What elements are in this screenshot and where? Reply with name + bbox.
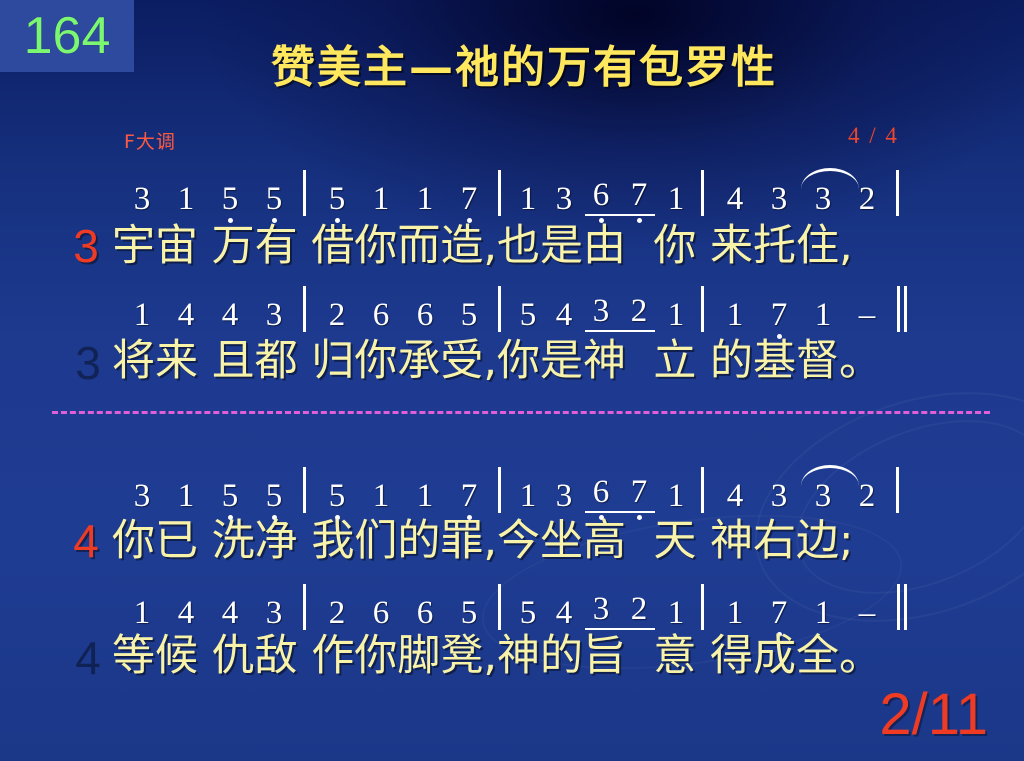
slide-title: 赞美主—祂的万有包罗性 [0,46,1024,90]
measure: 1 3 6 7 1 [510,475,694,513]
measure: 5 4 3 2 1 [510,294,694,332]
note: 3 [801,182,845,216]
note: 5 [315,479,359,513]
note: 4 [208,298,252,332]
note: 1 [403,479,447,513]
measure: 1 3 6 7 1 [510,178,694,216]
note: 2 [845,479,889,513]
note: 1 [164,479,208,513]
notation-staff-2: 1 4 4 3 2 6 6 5 5 4 3 2 1 1 7 1 – [120,280,950,332]
note-sustain: – [845,298,889,332]
slide-canvas: 164 赞美主—祂的万有包罗性 F大调 4 / 4 3 1 5 5 5 1 1 … [0,0,1024,761]
barline [303,170,306,216]
barline [303,584,306,630]
note: 1 [510,479,546,513]
note: 1 [658,298,694,332]
note: 5 [252,182,296,216]
note: 4 [546,298,582,332]
note: 5 [510,298,546,332]
verse-number: 4 [60,518,112,564]
beamed-eighth-pair: 6 7 [582,475,658,513]
beamed-eighth-pair: 3 2 [582,294,658,332]
notation-staff-1: 3 1 5 5 5 1 1 7 1 3 6 7 1 4 3 3 2 [120,164,950,216]
note: 5 [208,182,252,216]
measure: 4 3 3 2 [713,182,889,216]
measure: 4 3 3 2 [713,479,889,513]
time-signature-label: 4 / 4 [848,123,899,149]
note: 3 [582,294,620,328]
note: 4 [713,479,757,513]
note: 4 [164,298,208,332]
measure: 1 4 4 3 [120,298,296,332]
note: 7 [620,475,658,509]
note: 1 [164,182,208,216]
barline [701,170,704,216]
note: 3 [120,479,164,513]
note: 5 [315,182,359,216]
measure: 5 1 1 7 [315,182,491,216]
note: 1 [801,298,845,332]
page-counter: 2/11 [879,686,988,744]
note: 5 [447,298,491,332]
note: 2 [845,182,889,216]
section-divider [52,411,990,414]
note: 7 [620,178,658,212]
barline-double-final [897,286,907,332]
note: 2 [620,592,658,626]
note: 1 [359,182,403,216]
note: 1 [510,182,546,216]
barline [701,584,704,630]
barline [701,467,704,513]
note: 6 [582,178,620,212]
measure: 5 1 1 7 [315,479,491,513]
lyric-text: 宇宙 万有 借你而造,也是由 你 来托住, [112,225,853,268]
note: 5 [252,479,296,513]
note: 1 [713,298,757,332]
note: 6 [582,475,620,509]
note: 3 [757,182,801,216]
note: 1 [658,479,694,513]
note: 1 [403,182,447,216]
note: 3 [546,479,582,513]
notation-staff-4: 1 4 4 3 2 6 6 5 5 4 3 2 1 1 7 1 – [120,578,950,630]
lyric-text: 将来 且都 归你承受,你是神 立 的基督。 [112,340,882,383]
beamed-eighth-pair: 6 7 [582,178,658,216]
lyric-text: 你已 洗净 我们的罪,今坐高 天 神右边; [112,520,854,563]
note: 7 [447,182,491,216]
note: 7 [447,479,491,513]
barline [498,584,501,630]
barline [498,286,501,332]
note: 1 [658,182,694,216]
lyric-text: 等候 仇敌 作你脚凳,神的旨 意 得成全。 [112,635,882,678]
measure: 2 6 6 5 [315,298,491,332]
measure: 1 7 1 – [713,298,889,332]
note: 7 [757,298,801,332]
verse-number-spacer: 4 [60,633,112,679]
verse-number-spacer: 3 [60,338,112,384]
barline [701,286,704,332]
note: 6 [359,298,403,332]
barline-final [896,467,899,513]
barline [498,170,501,216]
note: 1 [359,479,403,513]
lyric-row-verse4-line2: 4 等候 仇敌 作你脚凳,神的旨 意 得成全。 [60,625,1020,687]
note: 2 [620,294,658,328]
note: 6 [403,298,447,332]
note: 4 [713,182,757,216]
key-signature-label: F大调 [124,127,176,154]
barline [303,286,306,332]
note: 3 [801,479,845,513]
lyric-row-verse4-line1: 4 你已 洗净 我们的罪,今坐高 天 神右边; [60,510,1020,572]
note: 5 [208,479,252,513]
measure: 3 1 5 5 [120,479,296,513]
barline [498,467,501,513]
note: 3 [757,479,801,513]
verse-number: 3 [60,223,112,269]
measure: 3 1 5 5 [120,182,296,216]
lyric-row-verse3-line1: 3 宇宙 万有 借你而造,也是由 你 来托住, [60,215,1020,277]
note: 1 [120,298,164,332]
note: 3 [252,298,296,332]
lyric-row-verse3-line2: 3 将来 且都 归你承受,你是神 立 的基督。 [60,330,1020,392]
note: 3 [582,592,620,626]
note: 3 [546,182,582,216]
note: 2 [315,298,359,332]
barline [303,467,306,513]
barline-final [896,170,899,216]
barline-double-final [897,584,907,630]
notation-staff-3: 3 1 5 5 5 1 1 7 1 3 6 7 1 4 3 3 2 [120,461,950,513]
note: 3 [120,182,164,216]
